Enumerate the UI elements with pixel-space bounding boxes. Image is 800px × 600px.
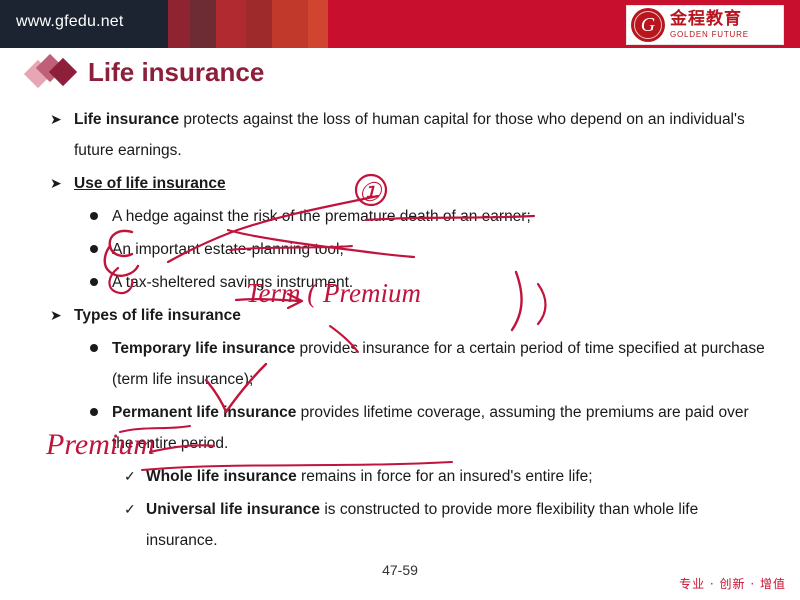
bullet-item: Temporary life insurance provides insura… (46, 333, 766, 395)
bullet-text-run: A hedge against the risk of the prematur… (112, 208, 531, 225)
bullet-text: An important estate-planning tool; (112, 241, 344, 258)
bullet-item: ➤Types of life insurance (46, 300, 766, 331)
arrow-bullet-icon: ➤ (50, 104, 62, 135)
bullet-text-run: Permanent life insurance (112, 404, 296, 421)
bullet-text: Life insurance protects against the loss… (74, 111, 745, 159)
bullet-text: Temporary life insurance provides insura… (112, 340, 765, 388)
bullet-text: Universal life insurance is constructed … (146, 501, 698, 549)
dot-bullet-icon (90, 344, 98, 352)
page-title: Life insurance (88, 57, 264, 88)
bullet-item: A tax-sheltered savings instrument. (46, 267, 766, 298)
diamond-decoration-icon (28, 52, 84, 92)
banner-stripe-2 (190, 0, 216, 48)
slide-title-row: Life insurance (28, 52, 264, 92)
arrow-bullet-icon: ➤ (50, 168, 62, 199)
logo-seal-icon: G (631, 8, 665, 42)
bullet-item: ➤Use of life insurance (46, 168, 766, 199)
footer-slogan: 专业 · 创新 · 增值 (679, 575, 786, 592)
bullet-text-run: Use of life insurance (74, 175, 226, 192)
bullet-item: ➤Life insurance protects against the los… (46, 104, 766, 166)
logo-name-en: GOLDEN FUTURE (670, 31, 749, 39)
dot-bullet-icon (90, 408, 98, 416)
bullet-text-run: Whole life insurance (146, 468, 297, 485)
logo-name-cn: 金程教育 (670, 11, 749, 29)
bullet-item: ✓Universal life insurance is constructed… (46, 494, 766, 556)
bullet-text-run: Temporary life insurance (112, 340, 295, 357)
dot-bullet-icon (90, 245, 98, 253)
bullet-text: A tax-sheltered savings instrument. (112, 274, 353, 291)
banner-stripe-4 (246, 0, 272, 48)
banner-stripe-6 (308, 0, 328, 48)
brand-logo: G 金程教育 GOLDEN FUTURE (626, 5, 784, 45)
bullet-text-run: Universal life insurance (146, 501, 320, 518)
bullet-text: Whole life insurance remains in force fo… (146, 468, 593, 485)
bullet-text-run: Life insurance (74, 111, 179, 128)
banner-stripe-1 (168, 0, 190, 48)
bullet-item: Permanent life insurance provides lifeti… (46, 397, 766, 459)
dot-bullet-icon (90, 212, 98, 220)
check-bullet-icon: ✓ (124, 461, 136, 492)
bullet-item: An important estate-planning tool; (46, 234, 766, 265)
bullet-text-run: remains in force for an insured's entire… (297, 468, 593, 485)
bullet-text-run: A tax-sheltered savings instrument. (112, 274, 353, 291)
banner-stripe-3 (216, 0, 246, 48)
bullet-text-run: Types of life insurance (74, 307, 241, 324)
bullet-item: ✓Whole life insurance remains in force f… (46, 461, 766, 492)
bullet-text: A hedge against the risk of the prematur… (112, 208, 531, 225)
site-url: www.gfedu.net (16, 13, 124, 31)
bullet-text: Types of life insurance (74, 307, 241, 324)
bullet-item: A hedge against the risk of the prematur… (46, 201, 766, 232)
bullet-text: Use of life insurance (74, 175, 226, 192)
dot-bullet-icon (90, 278, 98, 286)
slide-content: ➤Life insurance protects against the los… (46, 104, 766, 558)
banner-stripe-5 (272, 0, 308, 48)
arrow-bullet-icon: ➤ (50, 300, 62, 331)
bullet-text: Permanent life insurance provides lifeti… (112, 404, 749, 452)
logo-text: 金程教育 GOLDEN FUTURE (670, 11, 749, 39)
bullet-text-run: An important estate-planning tool; (112, 241, 344, 258)
check-bullet-icon: ✓ (124, 494, 136, 525)
